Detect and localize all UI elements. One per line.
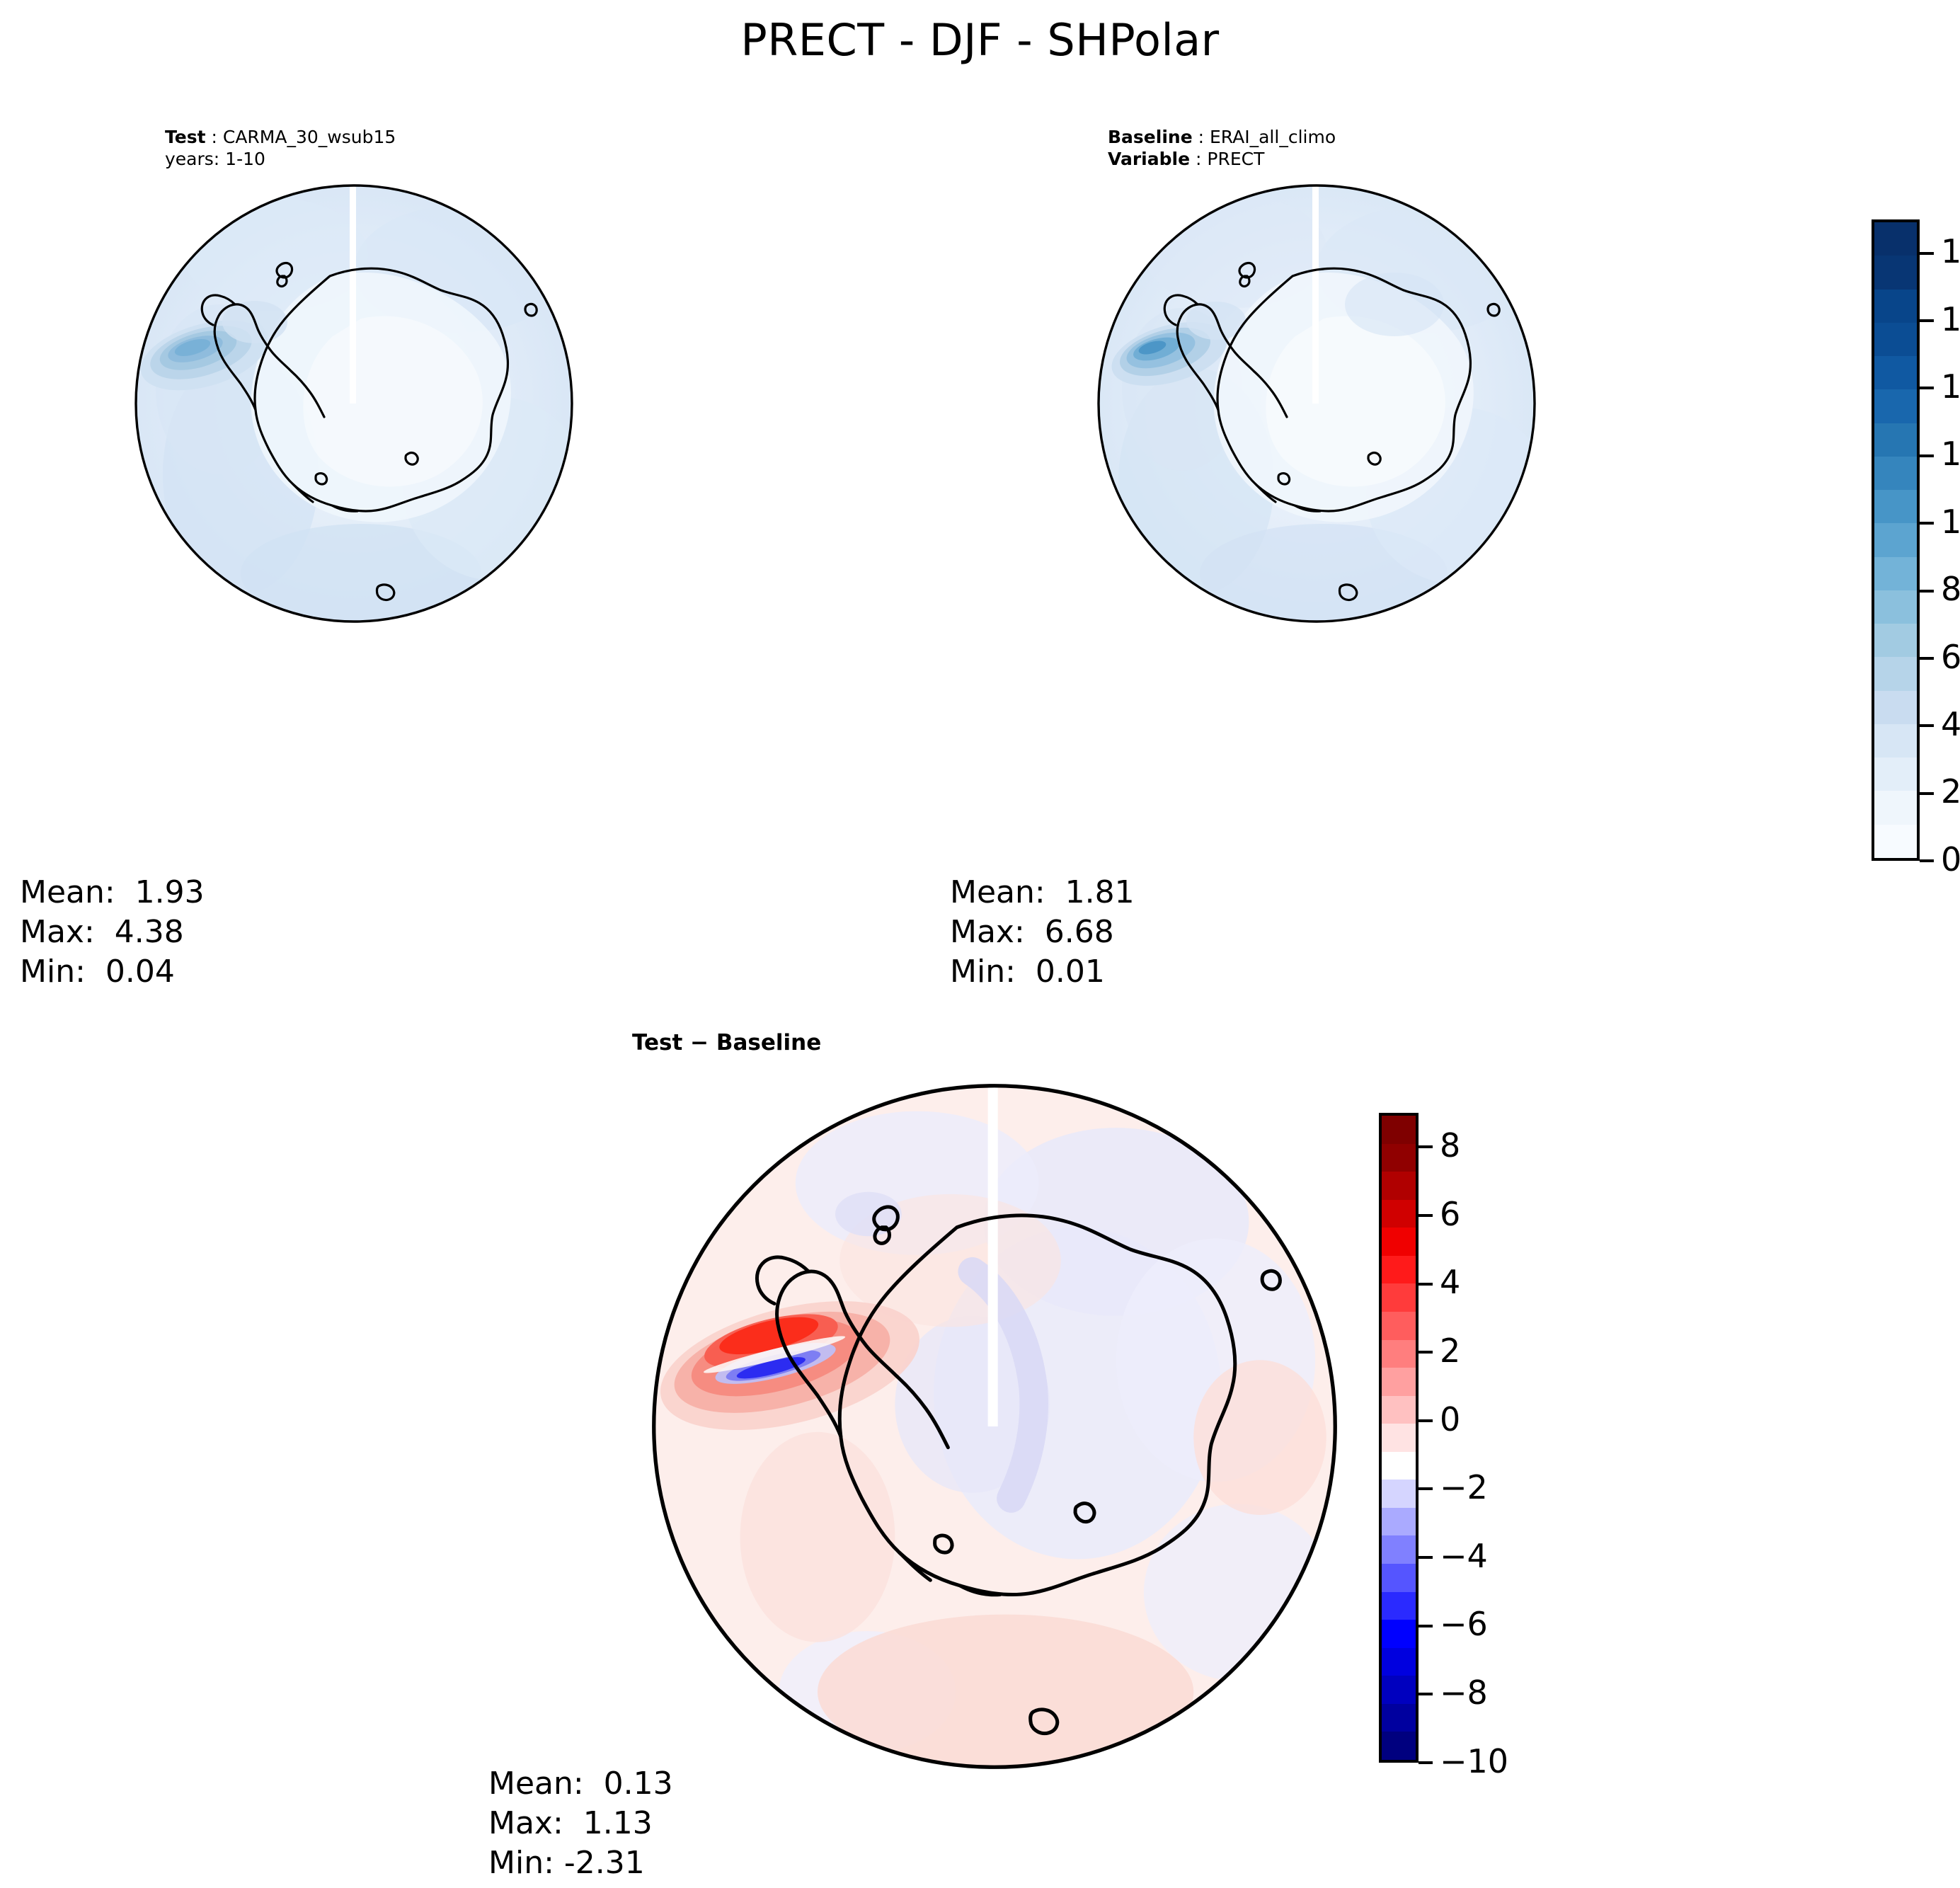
colorbar-tick [1419, 1625, 1433, 1627]
colorbar-segment [1382, 1424, 1416, 1452]
colorbar-segment [1382, 1452, 1416, 1480]
colorbar-segment [1874, 222, 1917, 256]
colorbar-tick-label: 2 [1440, 1334, 1460, 1367]
variable-sep: : [1190, 149, 1207, 169]
colorbar-segment [1874, 457, 1917, 490]
colorbar-tick-label: 6 [1440, 1198, 1460, 1230]
test-header-sep: : [206, 127, 223, 147]
test-header-label: Test [165, 127, 206, 147]
colorbar-tick-label: 14 [1941, 370, 1960, 403]
colorbar-tick [1920, 522, 1934, 525]
colorbar-tick [1419, 1693, 1433, 1695]
colorbar-tick-label: −10 [1440, 1745, 1508, 1778]
colorbar-segment [1382, 1340, 1416, 1368]
difference-colorbar[interactable]: −10−8−6−4−202468 [1379, 1113, 1464, 1763]
colorbar-tick-label: 2 [1941, 775, 1960, 808]
page-title: PRECT - DJF - SHPolar [0, 14, 1960, 66]
colorbar-segment [1382, 1283, 1416, 1312]
colorbar-segment [1874, 624, 1917, 657]
colorbar-segment [1874, 290, 1917, 323]
colorbar-segment [1874, 825, 1917, 858]
colorbar-segment [1874, 757, 1917, 791]
colorbar-tick [1920, 590, 1934, 593]
colorbar-segment [1382, 1312, 1416, 1340]
difference-subtitle: Test − Baseline [632, 1030, 821, 1055]
colorbar-segment [1874, 423, 1917, 457]
colorbar-tick [1419, 1556, 1433, 1559]
colorbar-tick [1419, 1283, 1433, 1286]
colorbar-segment [1382, 1480, 1416, 1508]
variable-line: Variable : PRECT [1108, 148, 1336, 170]
colorbar-tick-label: 0 [1941, 843, 1960, 876]
colorbar-tick-label: 8 [1941, 573, 1960, 605]
colorbar-tick [1419, 1145, 1433, 1148]
colorbar-tick-label: 8 [1440, 1129, 1460, 1162]
main-colorbar[interactable]: 024681012141618 [1872, 219, 1956, 861]
difference-colorbar-strip[interactable] [1379, 1113, 1419, 1763]
colorbar-segment [1874, 356, 1917, 389]
baseline-header-label: Baseline [1108, 127, 1193, 147]
colorbar-segment [1382, 1508, 1416, 1536]
variable-label: Variable [1108, 149, 1190, 169]
colorbar-tick-label: −8 [1440, 1676, 1488, 1709]
variable-value: PRECT [1207, 149, 1264, 169]
colorbar-tick-label: 0 [1440, 1403, 1460, 1436]
colorbar-segment [1874, 590, 1917, 624]
baseline-header-sep: : [1193, 127, 1210, 147]
colorbar-segment [1874, 691, 1917, 724]
test-map-svg [127, 177, 580, 630]
figure-canvas: PRECT - DJF - SHPolar Test : CARMA_30_ws… [0, 0, 1960, 1888]
colorbar-tick [1920, 387, 1934, 389]
colorbar-tick [1419, 1214, 1433, 1217]
colorbar-segment [1874, 657, 1917, 690]
colorbar-segment [1874, 791, 1917, 824]
colorbar-tick-label: 10 [1941, 505, 1960, 538]
colorbar-segment [1874, 557, 1917, 590]
colorbar-segment [1874, 490, 1917, 523]
colorbar-segment [1382, 1368, 1416, 1396]
baseline-map-field [1090, 177, 1543, 630]
test-years-line: years: 1-10 [165, 148, 396, 170]
difference-map-svg [641, 1072, 1348, 1780]
colorbar-tick [1920, 454, 1934, 457]
colorbar-tick [1920, 657, 1934, 660]
colorbar-segment [1382, 1172, 1416, 1200]
colorbar-segment [1382, 1648, 1416, 1676]
colorbar-tick-label: 12 [1941, 437, 1960, 470]
colorbar-segment [1382, 1732, 1416, 1760]
colorbar-segment [1382, 1228, 1416, 1256]
colorbar-segment [1382, 1676, 1416, 1704]
colorbar-segment [1874, 256, 1917, 289]
baseline-stats: Mean: 1.81 Max: 6.68 Min: 0.01 [950, 873, 1135, 992]
colorbar-segment [1382, 1396, 1416, 1424]
baseline-panel-header: Baseline : ERAI_all_climo Variable : PRE… [1108, 126, 1336, 170]
baseline-header-value: ERAI_all_climo [1210, 127, 1336, 147]
colorbar-tick [1419, 1487, 1433, 1490]
colorbar-segment [1382, 1535, 1416, 1564]
difference-stats: Mean: 0.13 Max: 1.13 Min: -2.31 [488, 1764, 673, 1883]
colorbar-tick-label: −2 [1440, 1471, 1488, 1504]
colorbar-tick [1920, 319, 1934, 322]
colorbar-segment [1382, 1620, 1416, 1648]
colorbar-segment [1382, 1144, 1416, 1172]
colorbar-segment [1382, 1592, 1416, 1620]
test-panel-header: Test : CARMA_30_wsub15 years: 1-10 [165, 126, 396, 170]
colorbar-segment [1382, 1256, 1416, 1284]
colorbar-tick-label: 4 [1440, 1266, 1460, 1298]
colorbar-segment [1874, 523, 1917, 556]
colorbar-tick-label: 18 [1941, 235, 1960, 268]
test-stats: Mean: 1.93 Max: 4.38 Min: 0.04 [20, 873, 205, 992]
test-header-value: CARMA_30_wsub15 [223, 127, 396, 147]
baseline-header-line: Baseline : ERAI_all_climo [1108, 126, 1336, 148]
difference-map-field [641, 1072, 1348, 1780]
difference-map [641, 1072, 1348, 1780]
colorbar-tick-label: 16 [1941, 303, 1960, 336]
colorbar-tick [1920, 724, 1934, 727]
colorbar-tick [1920, 792, 1934, 795]
colorbar-tick [1920, 252, 1934, 255]
colorbar-tick-label: −6 [1440, 1608, 1488, 1640]
colorbar-segment [1874, 724, 1917, 757]
main-colorbar-strip[interactable] [1872, 219, 1920, 861]
colorbar-tick-label: 4 [1941, 708, 1960, 740]
colorbar-tick-label: −4 [1440, 1540, 1488, 1572]
colorbar-segment [1382, 1116, 1416, 1144]
colorbar-segment [1874, 389, 1917, 423]
colorbar-tick-label: 6 [1941, 641, 1960, 673]
test-map-field [127, 177, 580, 630]
colorbar-tick [1419, 1761, 1433, 1764]
test-header-line: Test : CARMA_30_wsub15 [165, 126, 396, 148]
colorbar-tick [1920, 859, 1934, 862]
colorbar-segment [1382, 1704, 1416, 1732]
colorbar-segment [1874, 323, 1917, 356]
baseline-map [1090, 177, 1543, 630]
colorbar-segment [1382, 1564, 1416, 1592]
colorbar-tick [1419, 1351, 1433, 1354]
colorbar-segment [1382, 1200, 1416, 1228]
baseline-map-svg [1090, 177, 1543, 630]
colorbar-tick [1419, 1419, 1433, 1422]
test-map [127, 177, 580, 630]
